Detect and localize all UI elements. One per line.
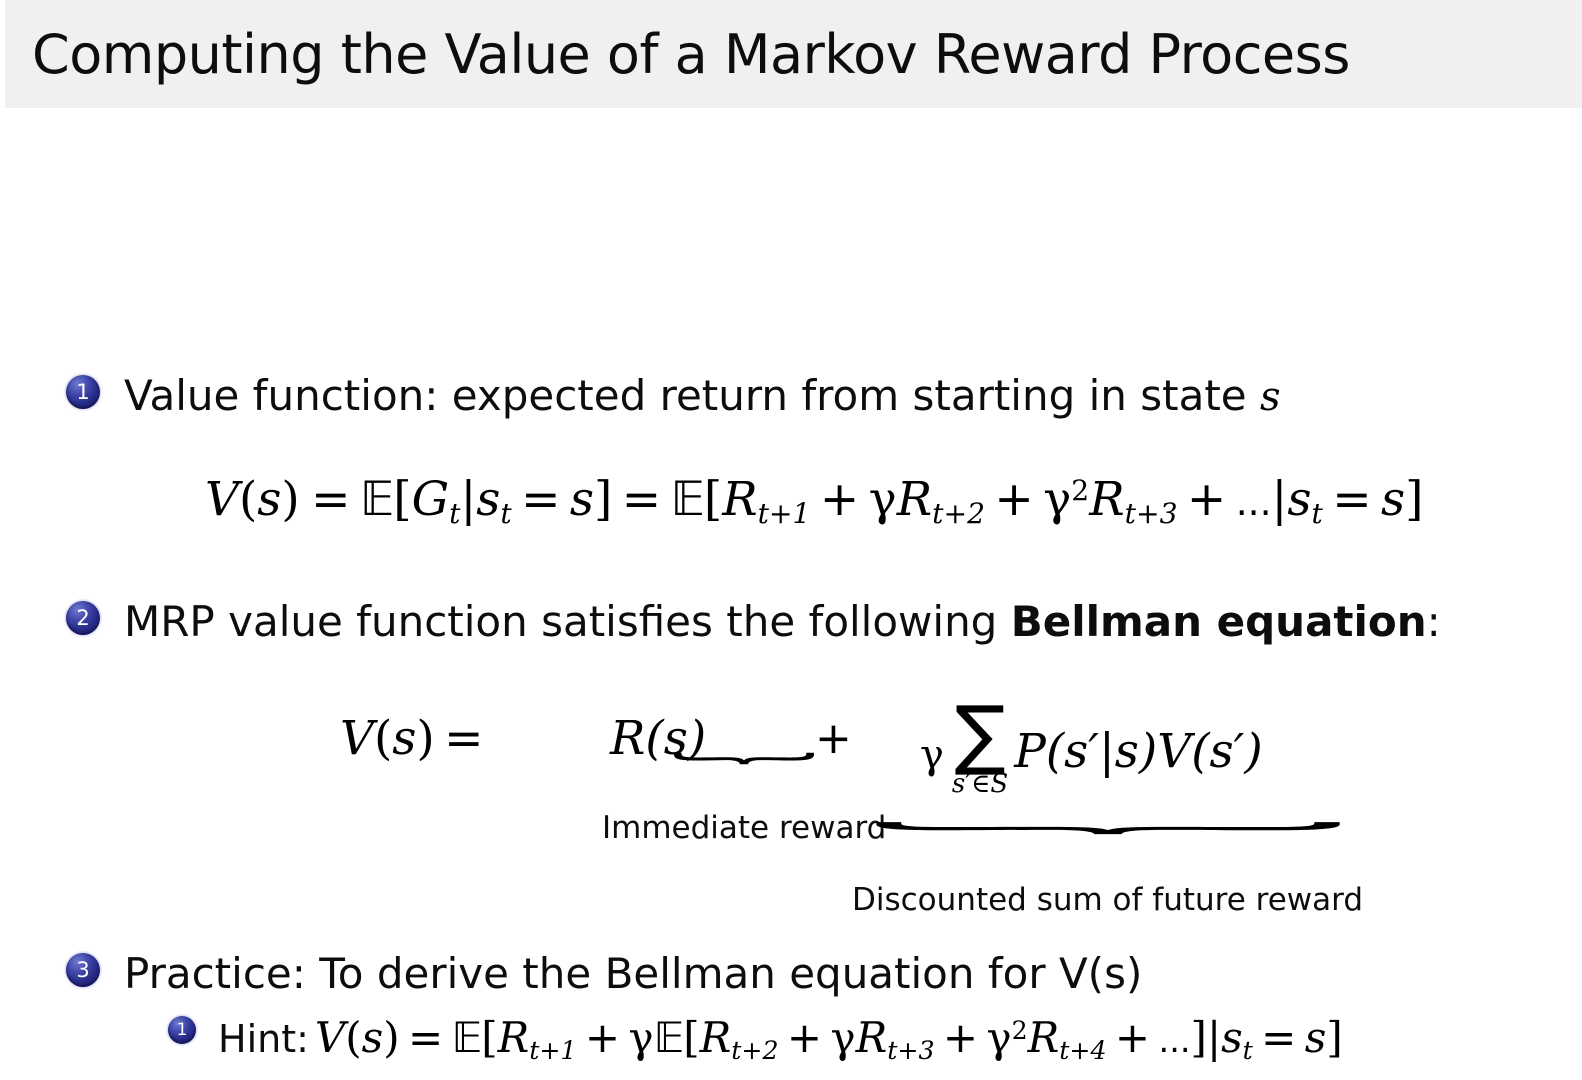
hint-plus-4: + xyxy=(1115,1013,1150,1062)
hint-R-4: R xyxy=(1028,1013,1060,1062)
eq1-R-2: R xyxy=(897,472,932,527)
hint-gamma-1: γ xyxy=(629,1013,654,1062)
eq1-paren-open: ( xyxy=(239,472,257,527)
hint-paren-close: ) xyxy=(383,1013,399,1062)
summation-index: s′∈S xyxy=(952,769,1008,799)
eq1-R-1: R xyxy=(722,472,757,527)
hint-expectation-2: 𝔼 xyxy=(654,1013,684,1062)
hint-bracket-close-1: ] xyxy=(1191,1013,1207,1062)
eq1-bracket-open-2: [ xyxy=(704,472,722,527)
eq1-s-rhs-2: s xyxy=(1381,472,1405,527)
eq1-G: G xyxy=(412,472,450,527)
hint-gamma-power: 2 xyxy=(1012,1016,1028,1045)
equation-value-function: V(s) = 𝔼[Gt|st = s] = 𝔼[Rt+1 + γRt+2 + γ… xyxy=(205,472,1423,527)
bellman-lhs: V(s) = xyxy=(340,711,484,766)
eq1-equals-4: = xyxy=(1332,472,1371,527)
eq1-R-sub-1: t+1 xyxy=(758,497,811,530)
eq1-paren-close: ) xyxy=(281,472,299,527)
sub-bullet-item-hint: 1 Hint: V(s) = 𝔼[Rt+1 + γ𝔼[Rt+2 + γRt+3 … xyxy=(168,1016,1343,1065)
hint-plus-3: + xyxy=(943,1013,978,1062)
hint-R-1: R xyxy=(498,1013,530,1062)
bellman-plus-operator: + xyxy=(815,713,852,764)
eq1-bracket-open-1: [ xyxy=(393,472,411,527)
eq1-R-3: R xyxy=(1089,472,1124,527)
eq1-expectation-2: 𝔼 xyxy=(671,472,704,527)
bellman-transition-product: P(s′|s)V(s′) xyxy=(1014,724,1262,779)
bullet-text-1: Value function: expected return from sta… xyxy=(124,375,1281,417)
eq1-gamma-power: 2 xyxy=(1071,474,1089,507)
hint-paren-open: ( xyxy=(345,1013,361,1062)
hint-expectation-1: 𝔼 xyxy=(452,1013,482,1062)
bullet-number-icon-1: 1 xyxy=(66,375,100,409)
bullet-text-2-tail: : xyxy=(1427,597,1441,646)
sub-bullet-number-icon-1: 1 xyxy=(168,1016,196,1044)
bullet-number-icon-3: 3 xyxy=(66,953,100,987)
bellman-discounted-term: γ ∑ s′∈S P(s′|s)V(s′) xyxy=(920,703,1263,799)
bellman-paren-open: ( xyxy=(374,711,392,766)
eq1-R-sub-3: t+3 xyxy=(1125,497,1178,530)
bellman-equation-block: V(s) = R(s) + γ ∑ s′∈S P(s′|s)V(s′) ︸ Im… xyxy=(340,703,1440,913)
eq1-bar-1: | xyxy=(460,472,476,527)
hint-R-sub-4: t+4 xyxy=(1059,1036,1106,1065)
hint-label: Hint: xyxy=(218,1017,309,1061)
bullet-item-2: 2 MRP value function satisfies the follo… xyxy=(66,601,1441,643)
hint-R-sub-1: t+1 xyxy=(529,1036,576,1065)
page-title: Computing the Value of a Markov Reward P… xyxy=(5,23,1350,86)
sigma-icon: ∑ xyxy=(954,703,1005,765)
hint-V: V xyxy=(315,1013,345,1062)
slide-body: 1 Value function: expected return from s… xyxy=(0,108,1582,1080)
hint-R-3: R xyxy=(856,1013,888,1062)
bullet-text-3: Practice: To derive the Bellman equation… xyxy=(124,953,1142,995)
bellman-gamma: γ xyxy=(920,732,952,778)
hint-plus-2: + xyxy=(787,1013,822,1062)
eq1-s-sub-2: t xyxy=(1312,497,1323,530)
slide-header: Computing the Value of a Markov Reward P… xyxy=(5,0,1582,108)
bullet-text-2: MRP value function satisfies the followi… xyxy=(124,601,1441,643)
eq1-ellipsis: ... xyxy=(1236,480,1272,524)
hint-equals-2: = xyxy=(1261,1013,1296,1062)
bellman-paren-close: ) xyxy=(416,711,434,766)
underbrace-icon-1: ︸ xyxy=(671,765,818,785)
hint-R-2: R xyxy=(700,1013,732,1062)
hint-s-sub: t xyxy=(1243,1036,1253,1065)
equation-hint: V(s) = 𝔼[Rt+1 + γ𝔼[Rt+2 + γRt+3 + γ2Rt+4… xyxy=(315,1013,1343,1062)
eq1-s-t-2: s xyxy=(1287,472,1311,527)
summation-operator: ∑ s′∈S xyxy=(952,703,1008,799)
eq1-s-sub-1: t xyxy=(500,497,511,530)
eq1-s-t-1: s xyxy=(476,472,500,527)
eq1-V: V xyxy=(205,472,239,527)
hint-R-sub-3: t+3 xyxy=(887,1036,934,1065)
bullet-text-1-math-s: s xyxy=(1260,374,1281,420)
eq1-expectation-1: 𝔼 xyxy=(360,472,393,527)
bullet-text-1-label: Value function: expected return from sta… xyxy=(124,371,1260,420)
eq1-s: s xyxy=(257,472,281,527)
hint-s-rhs: s xyxy=(1305,1013,1327,1062)
eq1-equals-1: = xyxy=(311,472,350,527)
hint-s: s xyxy=(362,1013,384,1062)
eq1-bar-2: | xyxy=(1272,472,1288,527)
eq1-gamma-1: γ xyxy=(869,472,897,527)
hint-plus-1: + xyxy=(585,1013,620,1062)
eq1-G-sub: t xyxy=(449,497,460,530)
eq1-gamma-2: γ xyxy=(1043,472,1071,527)
bellman-V: V xyxy=(340,711,374,766)
eq1-s-rhs-1: s xyxy=(570,472,594,527)
hint-bracket-open-1: [ xyxy=(481,1013,497,1062)
hint-equals-1: = xyxy=(408,1013,443,1062)
bellman-equals: = xyxy=(444,711,483,766)
bellman-s: s xyxy=(392,711,416,766)
hint-bar: | xyxy=(1207,1013,1221,1062)
hint-bracket-close-2: ] xyxy=(1326,1013,1342,1062)
eq1-plus-3: + xyxy=(1187,472,1226,527)
hint-gamma-3: γ xyxy=(987,1013,1012,1062)
eq1-plus-2: + xyxy=(994,472,1033,527)
bullet-item-1: 1 Value function: expected return from s… xyxy=(66,375,1281,417)
eq1-equals-2: = xyxy=(521,472,560,527)
eq1-plus-1: + xyxy=(820,472,859,527)
hint-gamma-2: γ xyxy=(831,1013,856,1062)
eq1-bracket-close-2: ] xyxy=(1405,472,1423,527)
bullet-number-icon-2: 2 xyxy=(66,601,100,635)
underbrace-discounted-sum: ︸ Discounted sum of future reward xyxy=(852,835,1363,918)
eq1-equals-3: = xyxy=(622,472,661,527)
underbrace-label-discounted: Discounted sum of future reward xyxy=(852,882,1363,918)
underbrace-immediate-reward: ︸ Immediate reward xyxy=(602,765,886,846)
hint-ellipsis: ... xyxy=(1159,1021,1191,1060)
underbrace-icon-2: ︸ xyxy=(864,835,1352,856)
hint-R-sub-2: t+2 xyxy=(731,1036,778,1065)
bullet-text-2-emphasis: Bellman equation xyxy=(1011,597,1427,646)
eq1-R-sub-2: t+2 xyxy=(932,497,985,530)
eq1-bracket-close-1: ] xyxy=(594,472,612,527)
hint-s-t: s xyxy=(1221,1013,1243,1062)
bullet-item-3: 3 Practice: To derive the Bellman equati… xyxy=(66,953,1142,995)
underbrace-label-immediate: Immediate reward xyxy=(602,810,886,846)
hint-bracket-open-2: [ xyxy=(683,1013,699,1062)
bullet-text-2-lead: MRP value function satisfies the followi… xyxy=(124,597,1011,646)
